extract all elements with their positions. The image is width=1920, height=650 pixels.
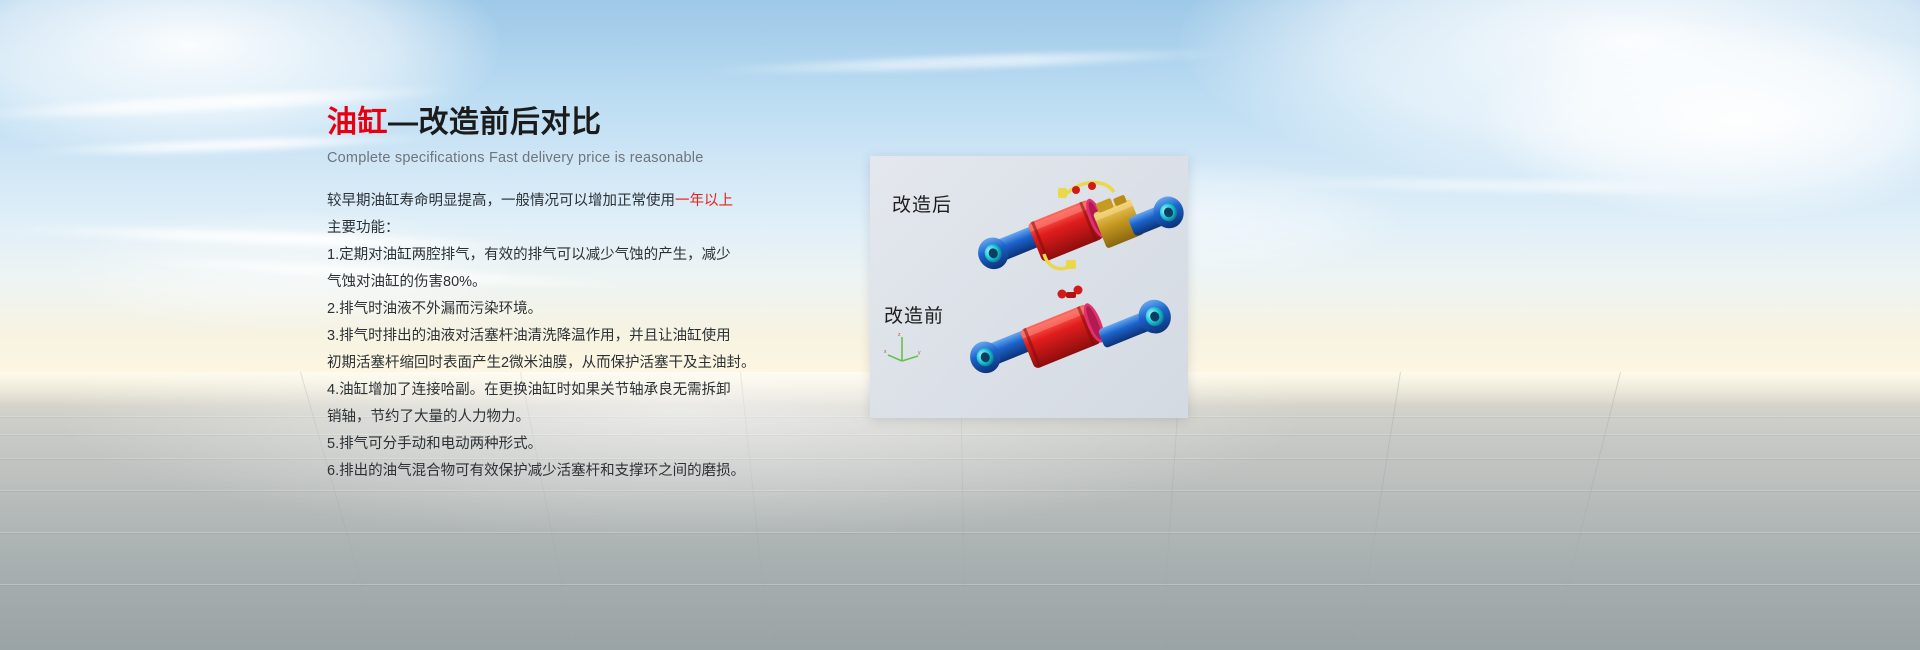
body-line: 初期活塞杆缩回时表面产生2微米油膜，从而保护活塞干及主油封。 <box>327 350 887 377</box>
svg-text:z: z <box>898 332 901 338</box>
label-after-modification: 改造后 <box>892 190 952 217</box>
body-line: 销轴，节约了大量的人力物力。 <box>327 404 887 431</box>
title-highlight: 油缸 <box>327 106 388 139</box>
body-text-highlight: 一年以上 <box>675 193 733 209</box>
body-line: 3.排气时排出的油液对活塞杆油清洗降温作用，并且让油缸使用 <box>327 323 887 350</box>
cloud-decoration <box>1180 0 1920 190</box>
cloud-streak <box>1240 175 1800 197</box>
body-line: 主要功能： <box>327 215 887 242</box>
cylinder-before-illustration <box>966 278 1180 390</box>
page-title: 油缸—改造前后对比 <box>327 104 887 142</box>
subtitle: Complete specifications Fast delivery pr… <box>327 148 887 168</box>
body-line: 4.油缸增加了连接哈副。在更换油缸时如果关节轴承良无需拆卸 <box>327 377 887 404</box>
product-comparison-panel: 改造后 改造前 z x y <box>870 156 1188 418</box>
body-line: 2.排气时油液不外漏而污染环境。 <box>327 296 887 323</box>
svg-text:x: x <box>884 349 887 355</box>
banner-stage: 油缸—改造前后对比 Complete specifications Fast d… <box>0 0 1920 650</box>
feature-text-block: 较早期油缸寿命明显提高，一般情况可以增加正常使用一年以上 主要功能： 1.定期对… <box>327 188 887 485</box>
banner-copy: 油缸—改造前后对比 Complete specifications Fast d… <box>327 104 887 485</box>
svg-text:y: y <box>918 350 921 356</box>
body-text: 较早期油缸寿命明显提高，一般情况可以增加正常使用 <box>327 193 675 209</box>
coordinate-axis-icon: z x y <box>884 331 924 367</box>
label-before-modification: 改造前 <box>884 301 944 328</box>
body-line: 1.定期对油缸两腔排气，有效的排气可以减少气蚀的产生，减少 <box>327 242 887 269</box>
body-line: 6.排出的油气混合物可有效保护减少活塞杆和支撑环之间的磨损。 <box>327 458 887 485</box>
cloud-streak <box>700 47 1240 78</box>
body-line: 5.排气可分手动和电动两种形式。 <box>327 431 887 458</box>
body-line: 较早期油缸寿命明显提高，一般情况可以增加正常使用一年以上 <box>327 188 887 215</box>
title-rest: —改造前后对比 <box>388 106 602 139</box>
cloud-decoration <box>1480 20 1920 220</box>
body-line: 气蚀对油缸的伤害80%。 <box>327 269 887 296</box>
cylinder-after-illustration <box>974 170 1188 282</box>
